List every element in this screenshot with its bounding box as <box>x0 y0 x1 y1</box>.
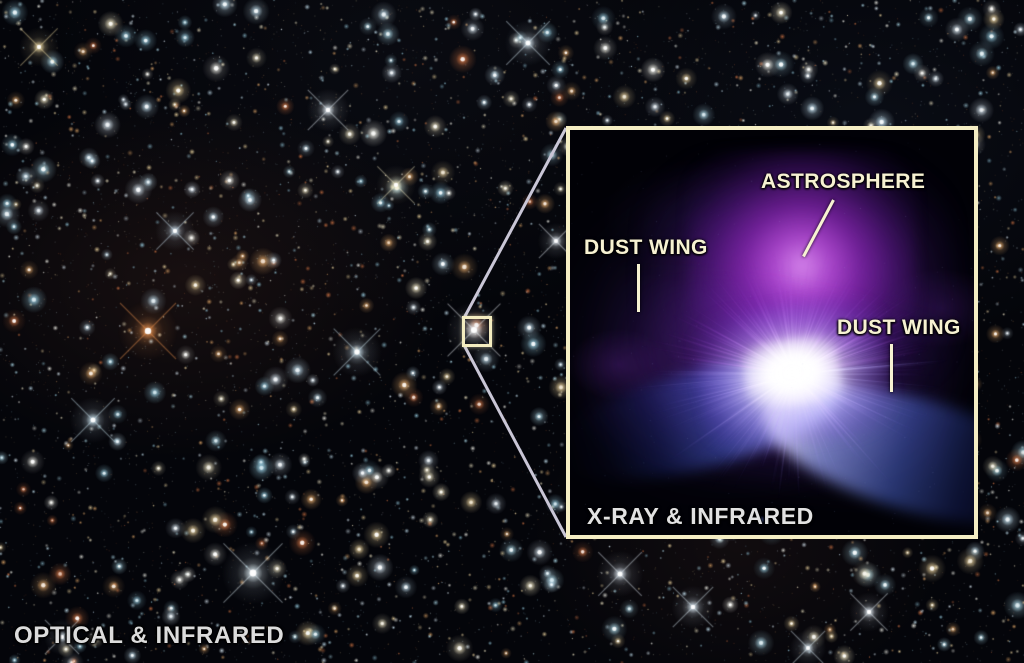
annotation-dust-wing-right: DUST WING <box>837 316 961 340</box>
xray-infrared-inset: ASTROSPHERE DUST WING DUST WING X-RAY & … <box>566 126 978 539</box>
leader-tick-dust-wing-right <box>890 344 893 392</box>
annotation-dust-wing-left: DUST WING <box>584 236 708 260</box>
inset-caption: X-RAY & INFRARED <box>587 503 814 530</box>
source-region-box <box>462 316 492 347</box>
wide-field-caption: OPTICAL & INFRARED <box>14 622 284 650</box>
leader-tick-dust-wing-left <box>637 264 640 312</box>
annotation-astrosphere: ASTROSPHERE <box>761 170 925 194</box>
astronomy-composite-image: OPTICAL & INFRARED ASTROSPHERE DUST WING… <box>0 0 1024 663</box>
